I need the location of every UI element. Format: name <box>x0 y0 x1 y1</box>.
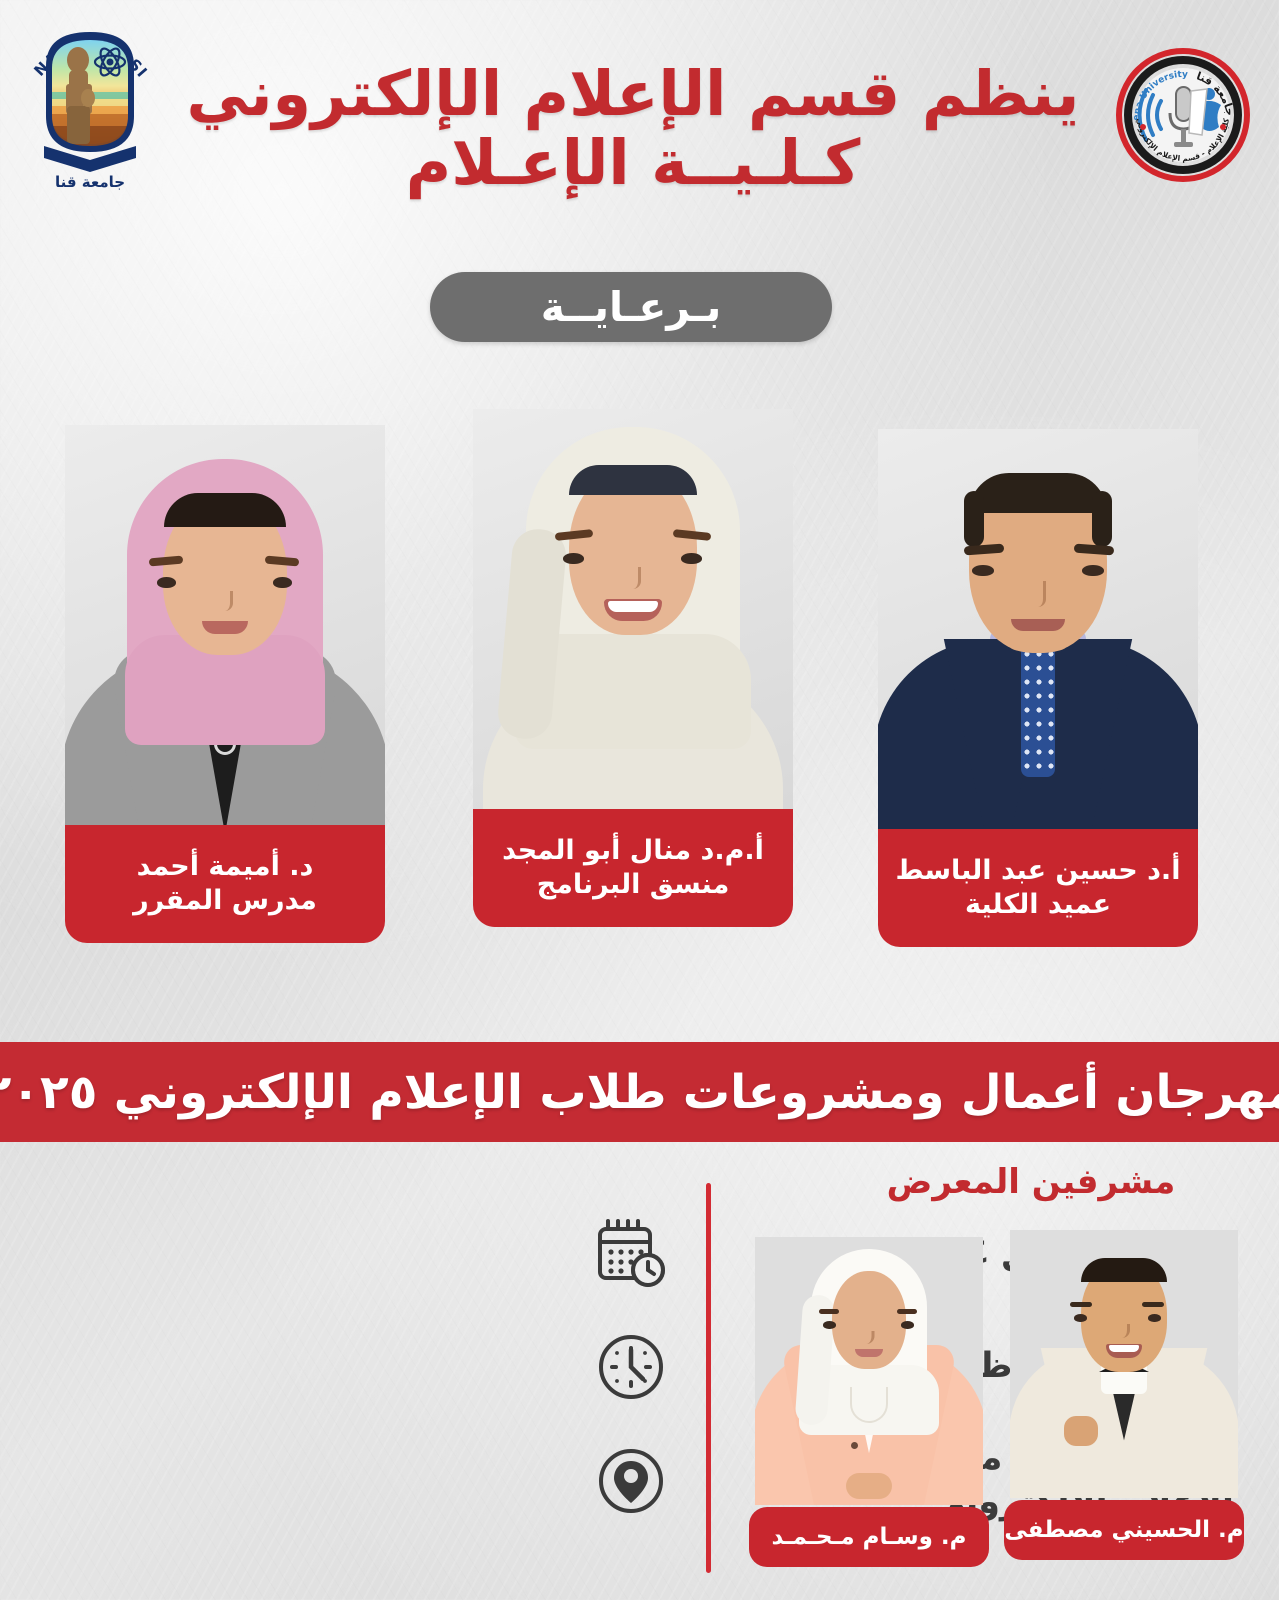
patron-name: أ.م.د منال أبو المجد <box>502 836 764 866</box>
patron-photo <box>473 409 793 809</box>
patron-card: د. أميمة أحمد مدرس المقرر <box>65 418 385 943</box>
event-title-banner: مهرجان أعمال ومشروعات طلاب الإعلام الإلك… <box>0 1042 1279 1142</box>
patron-card: أ.د حسين عبد الباسط عميد الكلية <box>878 422 1198 947</box>
supervisors-title: مشرفين المعرض <box>821 1162 1241 1202</box>
patron-name-label: أ.م.د منال أبو المجد منسق البرنامج <box>473 809 793 927</box>
location-pin-icon <box>594 1444 668 1518</box>
supervisor-name-badge: م. الحسيني مصطفى <box>1004 1500 1244 1560</box>
patron-card-row: د. أميمة أحمد مدرس المقرر <box>0 400 1279 940</box>
patron-photo <box>878 429 1198 829</box>
sponsor-pill: بـرعـايــة <box>430 272 832 342</box>
svg-text:جامعة قنا: جامعة قنا <box>55 173 125 190</box>
faculty-of-media-logo: Qena University جامعة قنا كلية الإعلام -… <box>1103 43 1263 193</box>
supervisor-card: م. الحسيني مصطفى <box>1010 1230 1238 1560</box>
patron-name-label: أ.د حسين عبد الباسط عميد الكلية <box>878 829 1198 947</box>
supervisor-photo <box>755 1237 983 1505</box>
patron-photo <box>65 425 385 825</box>
patron-name: د. أميمة أحمد <box>137 852 314 882</box>
patron-role: منسق البرنامج <box>537 870 730 900</box>
supervisor-name-badge: م. وسـام مـحـمـد <box>749 1507 989 1567</box>
poster-root: QENA UNIVERSITY <box>0 0 1279 1600</box>
patron-role: مدرس المقرر <box>133 886 317 916</box>
patron-role: عميد الكلية <box>965 890 1111 920</box>
patron-name-label: د. أميمة أحمد مدرس المقرر <box>65 825 385 943</box>
organizer-line-2: كـلـيــة الإعـلام <box>168 126 1098 199</box>
poster-heading: ينظم قسم الإعلام الإلكتروني كـلـيــة الإ… <box>168 62 1098 199</box>
clock-icon <box>594 1330 668 1404</box>
organizer-line-1: ينظم قسم الإعلام الإلكتروني <box>168 62 1098 126</box>
qena-university-logo: QENA UNIVERSITY <box>26 24 154 190</box>
supervisors-group: م. الحسيني مصطفى <box>735 1225 1255 1580</box>
supervisor-card: م. وسـام مـحـمـد <box>755 1237 983 1567</box>
patron-card: أ.م.د منال أبو المجد منسق البرنامج <box>473 402 793 927</box>
event-title: مهرجان أعمال ومشروعات طلاب الإعلام الإلك… <box>0 1065 1279 1120</box>
supervisor-photo <box>1010 1230 1238 1498</box>
calendar-clock-icon <box>594 1216 668 1290</box>
patron-name: أ.د حسين عبد الباسط <box>896 856 1181 886</box>
